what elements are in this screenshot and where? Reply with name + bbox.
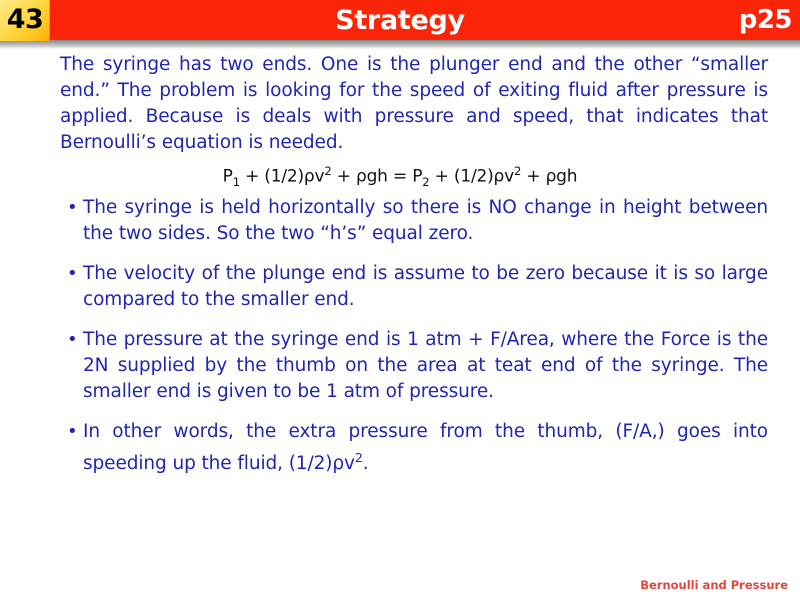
bernoulli-equation: P1 + (1/2)ρv2 + ρgh = P2 + (1/2)ρv2 + ρg… bbox=[0, 164, 800, 189]
equation-p1-subscript: 1 bbox=[233, 175, 240, 189]
bullet-list: • The syringe is held horizontally so th… bbox=[0, 195, 800, 477]
page-reference: p25 bbox=[739, 0, 792, 40]
list-item: • The pressure at the syringe end is 1 a… bbox=[83, 327, 768, 405]
equation-p2-base: P bbox=[412, 167, 422, 187]
slide-number-badge: 43 bbox=[0, 0, 50, 41]
list-item-text: In other words, the extra pressure from … bbox=[83, 421, 768, 474]
list-item-text: The syringe is held horizontally so ther… bbox=[83, 197, 768, 244]
equation-term-d: + ρgh bbox=[521, 167, 577, 187]
list-item: • The velocity of the plunge end is assu… bbox=[83, 261, 768, 313]
list-item-text-tail: . bbox=[363, 453, 369, 474]
slide-footer-label: Bernoulli and Pressure bbox=[640, 578, 788, 592]
bullet-icon: • bbox=[67, 419, 78, 445]
slide-number-text: 43 bbox=[7, 6, 44, 35]
bullet-icon: • bbox=[67, 195, 78, 221]
list-item-text: The velocity of the plunge end is assume… bbox=[83, 263, 768, 310]
list-item-exponent: 2 bbox=[355, 450, 363, 465]
equation-term-b: + ρgh = bbox=[332, 167, 413, 187]
header-shadow bbox=[0, 40, 800, 49]
equation-p1-base: P bbox=[223, 167, 233, 187]
slide-header-bar bbox=[0, 0, 800, 40]
list-item-text: The pressure at the syringe end is 1 atm… bbox=[83, 329, 768, 402]
slide-content: The syringe has two ends. One is the plu… bbox=[0, 52, 800, 491]
equation-exponent-a: 2 bbox=[324, 164, 331, 178]
bullet-icon: • bbox=[67, 261, 78, 287]
list-item: • The syringe is held horizontally so th… bbox=[83, 195, 768, 247]
intro-paragraph: The syringe has two ends. One is the plu… bbox=[60, 52, 768, 156]
equation-term-c: + (1/2)ρv bbox=[429, 167, 514, 187]
list-item: •In other words, the extra pressure from… bbox=[83, 419, 768, 477]
bullet-icon: • bbox=[67, 327, 78, 353]
equation-term-a: + (1/2)ρv bbox=[240, 167, 325, 187]
